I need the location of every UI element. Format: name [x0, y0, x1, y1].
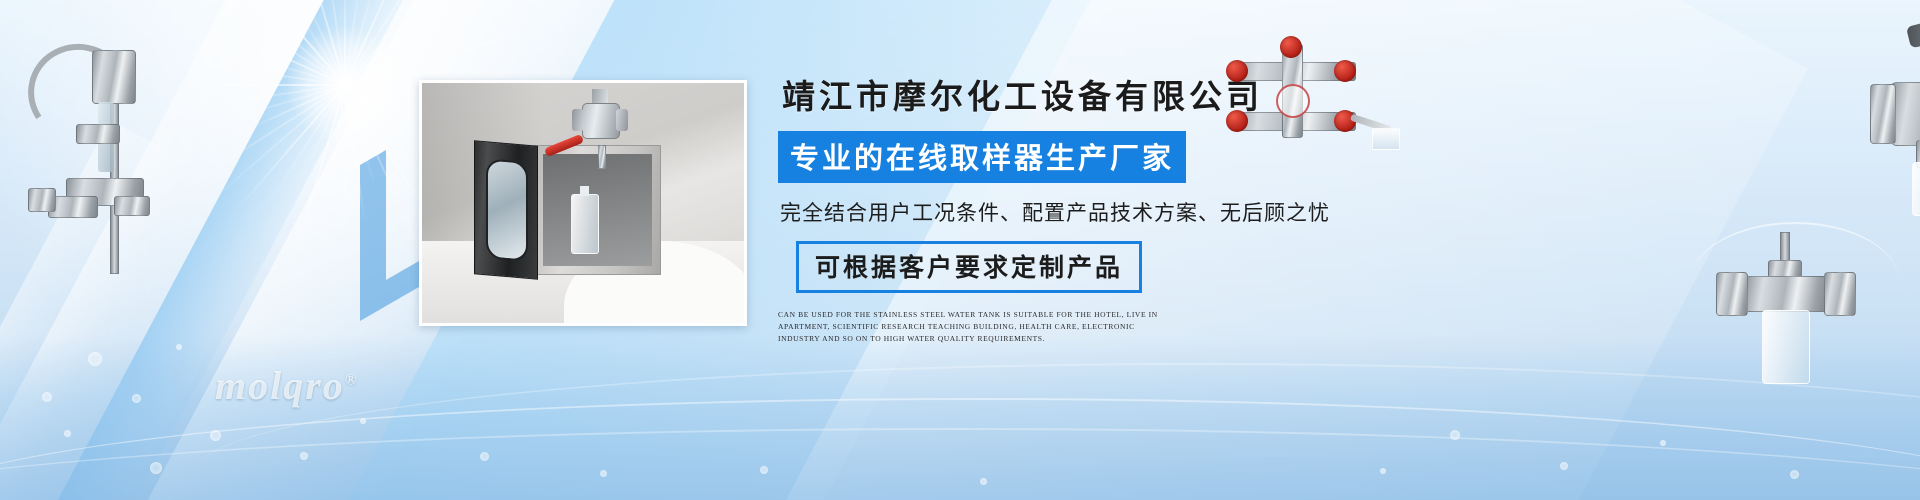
bubble [360, 418, 366, 424]
valve-flange-left [572, 109, 584, 131]
bubble [760, 466, 768, 474]
valve-flange-left [1716, 272, 1748, 316]
valve-flange-right [616, 109, 628, 131]
decor-arc [19, 34, 139, 151]
registered-trademark-icon: ® [345, 372, 359, 389]
callout-box: 可根据客户要求定制产品 [796, 241, 1142, 293]
sample-bottle [571, 194, 599, 254]
sight-glass-tube [98, 102, 114, 172]
bubble [88, 352, 102, 366]
lever-valve-image [1872, 22, 1920, 232]
valve-block [48, 196, 98, 218]
callout-box-text: 可根据客户要求定制产品 [815, 254, 1123, 282]
valve-flange-left [1870, 84, 1896, 144]
bubble [132, 394, 141, 403]
bubble [1380, 468, 1386, 474]
bubble [300, 452, 308, 460]
banner-text-column: 靖江市摩尔化工设备有限公司 专业的在线取样器生产厂家 完全结合用户工况条件、配置… [778, 70, 1418, 345]
lever-grip [1906, 17, 1920, 48]
valve-body [582, 103, 620, 139]
page-title: 靖江市摩尔化工设备有限公司 [778, 70, 1418, 118]
sun-glow [285, 25, 405, 145]
bubble [1790, 470, 1799, 479]
valve-block [28, 188, 56, 212]
bubble [600, 470, 607, 477]
headline-highlight-bar: 专业的在线取样器生产厂家 [778, 131, 1186, 183]
bubble [176, 344, 182, 350]
sample-glass-bottle [1912, 162, 1920, 216]
bubble [42, 392, 52, 402]
valve-outlet-stem [598, 145, 606, 169]
bubble [1560, 462, 1568, 470]
bubble [980, 478, 987, 485]
bubble [480, 452, 489, 461]
bubble [150, 462, 162, 474]
cabinet-door-window [486, 158, 528, 262]
red-handwheel-icon [1280, 36, 1302, 58]
sampler-assembly-left-image [14, 28, 164, 278]
cabinet-door [474, 140, 538, 280]
bubble [1660, 440, 1666, 446]
cabinet-interior [543, 154, 652, 266]
bubble [64, 430, 71, 437]
bubble [1450, 430, 1460, 440]
decor-arc [1690, 222, 1900, 344]
headline-highlight-text: 专业的在线取样器生产厂家 [790, 143, 1174, 175]
valve-flange-right [1824, 272, 1856, 316]
valve-block [114, 196, 150, 216]
water-wave-band [0, 335, 1920, 500]
valve-body [1744, 276, 1828, 312]
valve-body [1890, 82, 1920, 146]
valve-block [76, 124, 120, 144]
valve-stem [1780, 232, 1790, 268]
valve-neck [1916, 140, 1920, 168]
english-caption-text: CAN BE USED FOR THE STAINLESS STEEL WATE… [778, 309, 1176, 345]
subheadline-text: 完全结合用户工况条件、配置产品技术方案、无后顾之忧 [778, 197, 1418, 227]
product-photo [419, 80, 747, 326]
valve-block [66, 178, 144, 206]
instrument-box [92, 50, 136, 104]
wave-line [192, 363, 1920, 500]
bubble [210, 430, 221, 441]
brand-watermark-text: molqro [215, 363, 345, 408]
promo-banner: 靖江市摩尔化工设备有限公司 专业的在线取样器生产厂家 完全结合用户工况条件、配置… [0, 0, 1920, 500]
valve-cap [1768, 260, 1802, 278]
support-pole [110, 50, 119, 274]
product-photo-image [422, 83, 744, 323]
brand-watermark: molqro® [215, 362, 359, 409]
